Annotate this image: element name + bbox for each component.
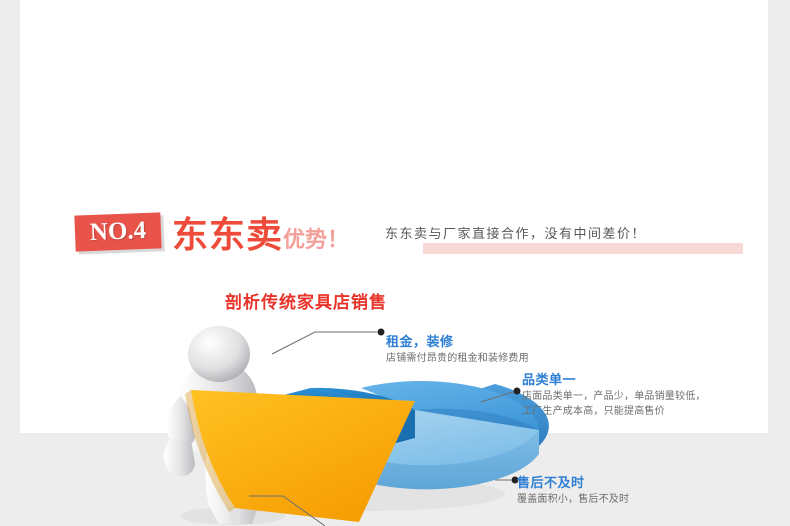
section-brand-title: 东东卖优势！ — [172, 206, 349, 258]
section-tagline: 东东卖与厂家直接合作，没有中间差价！ — [385, 223, 646, 242]
callout-single-category-line-1: 店面品类单一，产品少，单品销量较低， — [522, 390, 706, 404]
callout-slow-service: 售后不及时 覆盖面积小，售后不及时 — [517, 476, 629, 507]
callout-slow-service-heading: 售后不及时 — [517, 476, 629, 492]
tagline-underline-bar — [423, 243, 743, 254]
brand-name-text: 东东卖 — [172, 215, 283, 256]
callout-single-category-line-2: 工厂生产成本高，只能提高售价 — [522, 405, 706, 419]
callout-slow-service-line-1: 覆盖面积小，售后不及时 — [517, 493, 629, 507]
callout-single-category-heading: 品类单一 — [522, 373, 706, 389]
page-root: ifree 发睿 ALICE PALACE —愛麗宮— — [0, 0, 790, 433]
callout-rent: 租金，装修 店铺需付昂贵的租金和装修费用 — [386, 335, 529, 366]
section-number-label: NO.4 — [89, 217, 146, 247]
chart-title: 剖析传统家具店销售 — [225, 288, 387, 313]
figure-right-hand — [164, 438, 195, 476]
callout-rent-heading: 租金，装修 — [386, 335, 529, 351]
section-number-tag: NO.4 — [74, 212, 161, 251]
brand-suffix-text: 优势！ — [283, 228, 349, 253]
callout-rent-line-1: 店铺需付昂贵的租金和装修费用 — [386, 352, 529, 366]
callout-single-category: 品类单一 店面品类单一，产品少，单品销量较低， 工厂生产成本高，只能提高售价 — [522, 373, 706, 419]
advantage-panel: NO.4 东东卖优势！ 东东卖与厂家直接合作，没有中间差价！ 剖析传统家具店销售 — [20, 88, 768, 433]
figure-head — [188, 326, 250, 382]
